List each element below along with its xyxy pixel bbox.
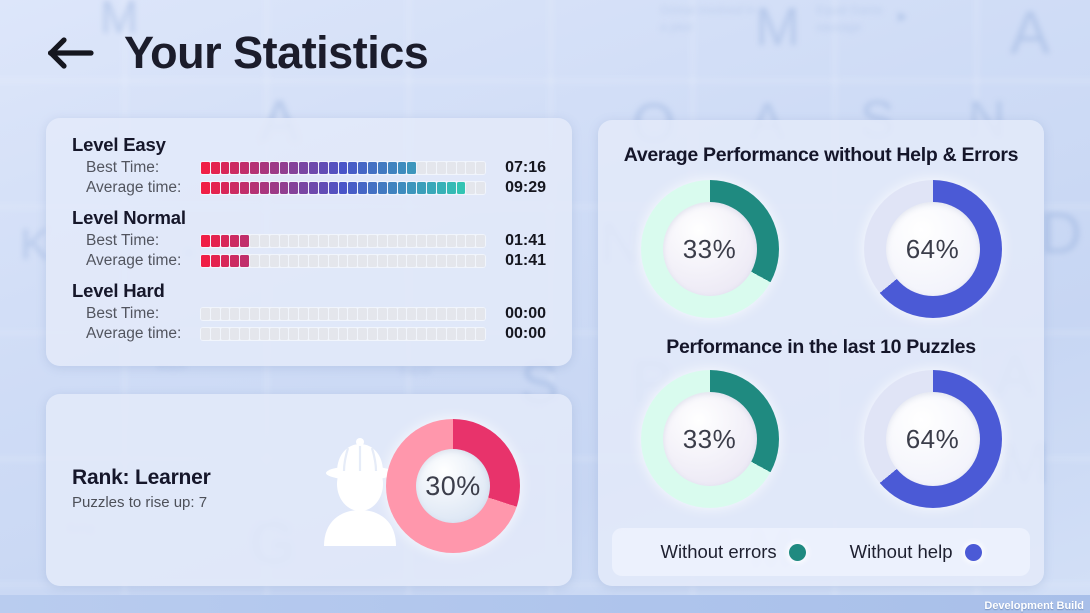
progress-segment xyxy=(398,308,407,320)
progress-segment xyxy=(221,328,230,340)
progress-segment xyxy=(427,162,436,174)
progress-segment xyxy=(368,235,377,247)
level-statistics-list: Level EasyBest Time:07:16Average time:09… xyxy=(46,118,572,354)
progress-segment xyxy=(211,162,220,174)
progress-segment xyxy=(457,162,466,174)
progress-segment xyxy=(398,255,407,267)
progress-segment xyxy=(457,328,466,340)
progress-segment xyxy=(329,235,338,247)
donut-chart-avg-without-errors: 33% xyxy=(641,180,779,318)
progress-segment xyxy=(447,328,456,340)
stat-label: Best Time: xyxy=(72,305,200,323)
donut-chart-last10-without-help: 64% xyxy=(864,370,1002,508)
progress-segment xyxy=(358,235,367,247)
progress-segment xyxy=(201,308,210,320)
dev-build-label: Development Build xyxy=(984,600,1084,612)
stat-label: Average time: xyxy=(72,325,200,343)
donut-value-label: 33% xyxy=(641,370,779,508)
progress-segment xyxy=(319,255,328,267)
progress-segment xyxy=(466,182,475,194)
level-block: Level HardBest Time:00:00Average time:00… xyxy=(72,280,548,344)
progress-segment xyxy=(339,255,348,267)
progress-segment xyxy=(299,182,308,194)
progress-segment xyxy=(299,235,308,247)
progress-segment xyxy=(437,182,446,194)
progress-segment xyxy=(221,162,230,174)
progress-segment xyxy=(329,162,338,174)
progress-segment xyxy=(339,182,348,194)
progress-segment xyxy=(309,255,318,267)
progress-segment xyxy=(201,162,210,174)
progress-segment xyxy=(270,182,279,194)
performance-title-average: Average Performance without Help & Error… xyxy=(598,144,1044,167)
progress-segment xyxy=(388,162,397,174)
rank-subtitle: Puzzles to rise up: 7 xyxy=(72,494,211,511)
progress-segment xyxy=(270,235,279,247)
back-button[interactable] xyxy=(44,26,98,80)
progress-segment xyxy=(299,328,308,340)
stat-time-value: 09:29 xyxy=(486,179,546,197)
level-title: Level Hard xyxy=(72,280,548,302)
progress-segment xyxy=(250,308,259,320)
level-title: Level Easy xyxy=(72,134,548,156)
progress-segment xyxy=(447,255,456,267)
progress-segment xyxy=(319,308,328,320)
progress-segment xyxy=(289,162,298,174)
bg-letter: K xyxy=(20,220,49,270)
progress-segment xyxy=(427,182,436,194)
progress-segment xyxy=(407,235,416,247)
progress-segment xyxy=(280,255,289,267)
stat-row: Best Time:07:16 xyxy=(72,158,548,178)
progress-segment xyxy=(240,235,249,247)
progress-segment xyxy=(250,235,259,247)
progress-segment xyxy=(348,255,357,267)
progress-segment xyxy=(289,308,298,320)
bg-letter: A xyxy=(1010,0,1050,67)
progress-segment xyxy=(221,308,230,320)
progress-segment xyxy=(230,308,239,320)
progress-segment xyxy=(309,328,318,340)
stat-time-value: 01:41 xyxy=(486,252,546,270)
progress-segment xyxy=(358,162,367,174)
progress-segment xyxy=(250,255,259,267)
progress-segment xyxy=(221,182,230,194)
progress-segment xyxy=(299,162,308,174)
progress-segment xyxy=(250,162,259,174)
progress-segment xyxy=(221,255,230,267)
progress-segment xyxy=(230,235,239,247)
progress-segment xyxy=(280,328,289,340)
progress-segment xyxy=(407,182,416,194)
progress-segment xyxy=(329,255,338,267)
progress-segment xyxy=(476,162,485,174)
progress-segment xyxy=(358,328,367,340)
progress-segment xyxy=(230,162,239,174)
progress-segment xyxy=(299,308,308,320)
progress-segment xyxy=(457,308,466,320)
progress-segment xyxy=(417,308,426,320)
progress-segment xyxy=(476,182,485,194)
page-title: Your Statistics xyxy=(124,27,428,79)
donut-value-label: 30% xyxy=(386,419,520,553)
progress-segment xyxy=(398,182,407,194)
progress-segment xyxy=(407,255,416,267)
progress-segment xyxy=(270,255,279,267)
progress-segment xyxy=(348,182,357,194)
progress-segment xyxy=(230,182,239,194)
progress-segment xyxy=(368,328,377,340)
progress-segment xyxy=(447,235,456,247)
progress-segment xyxy=(309,235,318,247)
back-arrow-icon xyxy=(48,36,94,70)
progress-segment xyxy=(466,308,475,320)
stat-time-value: 00:00 xyxy=(486,305,546,323)
rank-progress-donut: 30% xyxy=(386,419,520,553)
progress-segment xyxy=(358,182,367,194)
bg-clue: Grimal involved in a pled xyxy=(660,2,756,36)
donut-value-label: 64% xyxy=(864,180,1002,318)
progress-segment xyxy=(427,255,436,267)
progress-segment xyxy=(289,255,298,267)
progress-segment xyxy=(348,235,357,247)
level-block: Level EasyBest Time:07:16Average time:09… xyxy=(72,134,548,198)
progress-segment xyxy=(417,162,426,174)
progress-segment-bar xyxy=(200,181,486,195)
progress-segment xyxy=(329,328,338,340)
progress-segment xyxy=(466,162,475,174)
progress-segment xyxy=(280,162,289,174)
progress-segment xyxy=(260,328,269,340)
stat-time-value: 07:16 xyxy=(486,159,546,177)
statistics-screen: M M A A O A S N N D K S P A M G A M Mout… xyxy=(0,0,1090,613)
progress-segment xyxy=(329,308,338,320)
progress-segment xyxy=(348,308,357,320)
progress-segment xyxy=(329,182,338,194)
progress-segment xyxy=(348,162,357,174)
legend-label: Without help xyxy=(850,541,953,563)
progress-segment xyxy=(358,255,367,267)
progress-segment xyxy=(368,308,377,320)
donut-row-last10: 33%64% xyxy=(598,370,1044,508)
progress-segment xyxy=(378,162,387,174)
progress-segment xyxy=(339,328,348,340)
progress-segment xyxy=(270,308,279,320)
stat-row: Best Time:01:41 xyxy=(72,231,548,251)
progress-segment xyxy=(348,328,357,340)
dev-build-bar xyxy=(0,595,1090,613)
page-header: Your Statistics xyxy=(44,26,428,80)
progress-segment xyxy=(270,162,279,174)
progress-segment xyxy=(378,255,387,267)
progress-segment xyxy=(240,255,249,267)
progress-segment xyxy=(447,308,456,320)
donut-value-label: 33% xyxy=(641,180,779,318)
progress-segment xyxy=(211,182,220,194)
progress-segment xyxy=(407,308,416,320)
progress-segment xyxy=(398,235,407,247)
progress-segment xyxy=(339,235,348,247)
progress-segment xyxy=(388,308,397,320)
stat-row: Best Time:00:00 xyxy=(72,304,548,324)
progress-segment xyxy=(476,235,485,247)
legend-item[interactable]: Without errors xyxy=(660,541,805,563)
progress-segment xyxy=(368,182,377,194)
progress-segment xyxy=(398,328,407,340)
progress-segment xyxy=(388,328,397,340)
progress-segment xyxy=(309,182,318,194)
bg-letter: M xyxy=(755,0,800,58)
progress-segment xyxy=(407,162,416,174)
progress-segment-bar xyxy=(200,234,486,248)
progress-segment xyxy=(358,308,367,320)
level-statistics-card: Level EasyBest Time:07:16Average time:09… xyxy=(46,118,572,366)
legend-dot-icon xyxy=(965,544,982,561)
progress-segment xyxy=(240,308,249,320)
progress-segment xyxy=(339,162,348,174)
progress-segment xyxy=(457,235,466,247)
progress-segment xyxy=(250,328,259,340)
bg-letter: D xyxy=(1040,200,1082,267)
progress-segment-bar xyxy=(200,327,486,341)
rank-text-block: Rank: Learner Puzzles to rise up: 7 xyxy=(72,466,211,511)
progress-segment xyxy=(319,162,328,174)
progress-segment xyxy=(476,255,485,267)
legend-item[interactable]: Without help xyxy=(850,541,982,563)
legend-label: Without errors xyxy=(660,541,776,563)
stat-label: Average time: xyxy=(72,252,200,270)
progress-segment xyxy=(260,162,269,174)
progress-segment xyxy=(240,328,249,340)
progress-segment xyxy=(319,328,328,340)
stat-time-value: 00:00 xyxy=(486,325,546,343)
progress-segment xyxy=(388,182,397,194)
progress-segment xyxy=(388,235,397,247)
progress-segment xyxy=(417,182,426,194)
progress-segment xyxy=(309,162,318,174)
progress-segment xyxy=(230,328,239,340)
progress-segment xyxy=(476,308,485,320)
donut-chart-last10-without-errors: 33% xyxy=(641,370,779,508)
progress-segment xyxy=(378,235,387,247)
progress-segment xyxy=(280,308,289,320)
progress-segment xyxy=(378,328,387,340)
progress-segment xyxy=(437,328,446,340)
progress-segment xyxy=(280,182,289,194)
stat-row: Average time:00:00 xyxy=(72,324,548,344)
progress-segment xyxy=(457,182,466,194)
progress-segment xyxy=(417,328,426,340)
donut-row-average: 33%64% xyxy=(598,180,1044,318)
progress-segment xyxy=(211,235,220,247)
stat-time-value: 01:41 xyxy=(486,232,546,250)
progress-segment xyxy=(289,328,298,340)
progress-segment xyxy=(437,255,446,267)
progress-segment xyxy=(466,235,475,247)
progress-segment xyxy=(407,328,416,340)
progress-segment xyxy=(437,308,446,320)
progress-segment xyxy=(201,182,210,194)
progress-segment xyxy=(211,308,220,320)
progress-segment xyxy=(427,328,436,340)
level-title: Level Normal xyxy=(72,207,548,229)
progress-segment xyxy=(417,255,426,267)
progress-segment-bar xyxy=(200,307,486,321)
progress-segment xyxy=(437,235,446,247)
performance-card: Average Performance without Help & Error… xyxy=(598,120,1044,586)
progress-segment xyxy=(260,235,269,247)
progress-segment xyxy=(388,255,397,267)
progress-segment xyxy=(250,182,259,194)
progress-segment xyxy=(201,328,210,340)
progress-segment xyxy=(260,308,269,320)
progress-segment-bar xyxy=(200,161,486,175)
progress-segment xyxy=(289,182,298,194)
progress-segment xyxy=(417,235,426,247)
donut-chart-avg-without-help: 64% xyxy=(864,180,1002,318)
level-block: Level NormalBest Time:01:41Average time:… xyxy=(72,207,548,271)
donut-value-label: 64% xyxy=(864,370,1002,508)
stat-label: Best Time: xyxy=(72,159,200,177)
chart-legend: Without errorsWithout help xyxy=(612,528,1030,576)
rank-title: Rank: Learner xyxy=(72,466,211,490)
stat-row: Average time:09:29 xyxy=(72,178,548,198)
progress-segment xyxy=(240,162,249,174)
progress-segment xyxy=(240,182,249,194)
performance-title-last10: Performance in the last 10 Puzzles xyxy=(598,336,1044,359)
progress-segment xyxy=(280,235,289,247)
progress-segment xyxy=(368,162,377,174)
progress-segment-bar xyxy=(200,254,486,268)
rank-card: Rank: Learner Puzzles to rise up: 7 xyxy=(46,394,572,586)
progress-segment xyxy=(260,182,269,194)
progress-segment xyxy=(221,235,230,247)
legend-dot-icon xyxy=(789,544,806,561)
progress-segment xyxy=(211,328,220,340)
progress-segment xyxy=(457,255,466,267)
progress-segment xyxy=(289,235,298,247)
progress-segment xyxy=(378,182,387,194)
progress-segment xyxy=(427,235,436,247)
progress-segment xyxy=(398,162,407,174)
stat-row: Average time:01:41 xyxy=(72,251,548,271)
progress-segment xyxy=(319,235,328,247)
bg-arrow-icon xyxy=(898,12,907,22)
progress-segment xyxy=(299,255,308,267)
progress-segment xyxy=(270,328,279,340)
progress-segment xyxy=(339,308,348,320)
progress-segment xyxy=(201,235,210,247)
progress-segment xyxy=(378,308,387,320)
donut-chart-rank-progress: 30% xyxy=(386,419,520,553)
progress-segment xyxy=(319,182,328,194)
progress-segment xyxy=(309,308,318,320)
progress-segment xyxy=(437,162,446,174)
stat-label: Best Time: xyxy=(72,232,200,250)
progress-segment xyxy=(368,255,377,267)
progress-segment xyxy=(476,328,485,340)
progress-segment xyxy=(260,255,269,267)
progress-segment xyxy=(447,182,456,194)
progress-segment xyxy=(466,328,475,340)
progress-segment xyxy=(466,255,475,267)
progress-segment xyxy=(230,255,239,267)
progress-segment xyxy=(201,255,210,267)
progress-segment xyxy=(427,308,436,320)
progress-segment xyxy=(447,162,456,174)
stat-label: Average time: xyxy=(72,179,200,197)
progress-segment xyxy=(211,255,220,267)
